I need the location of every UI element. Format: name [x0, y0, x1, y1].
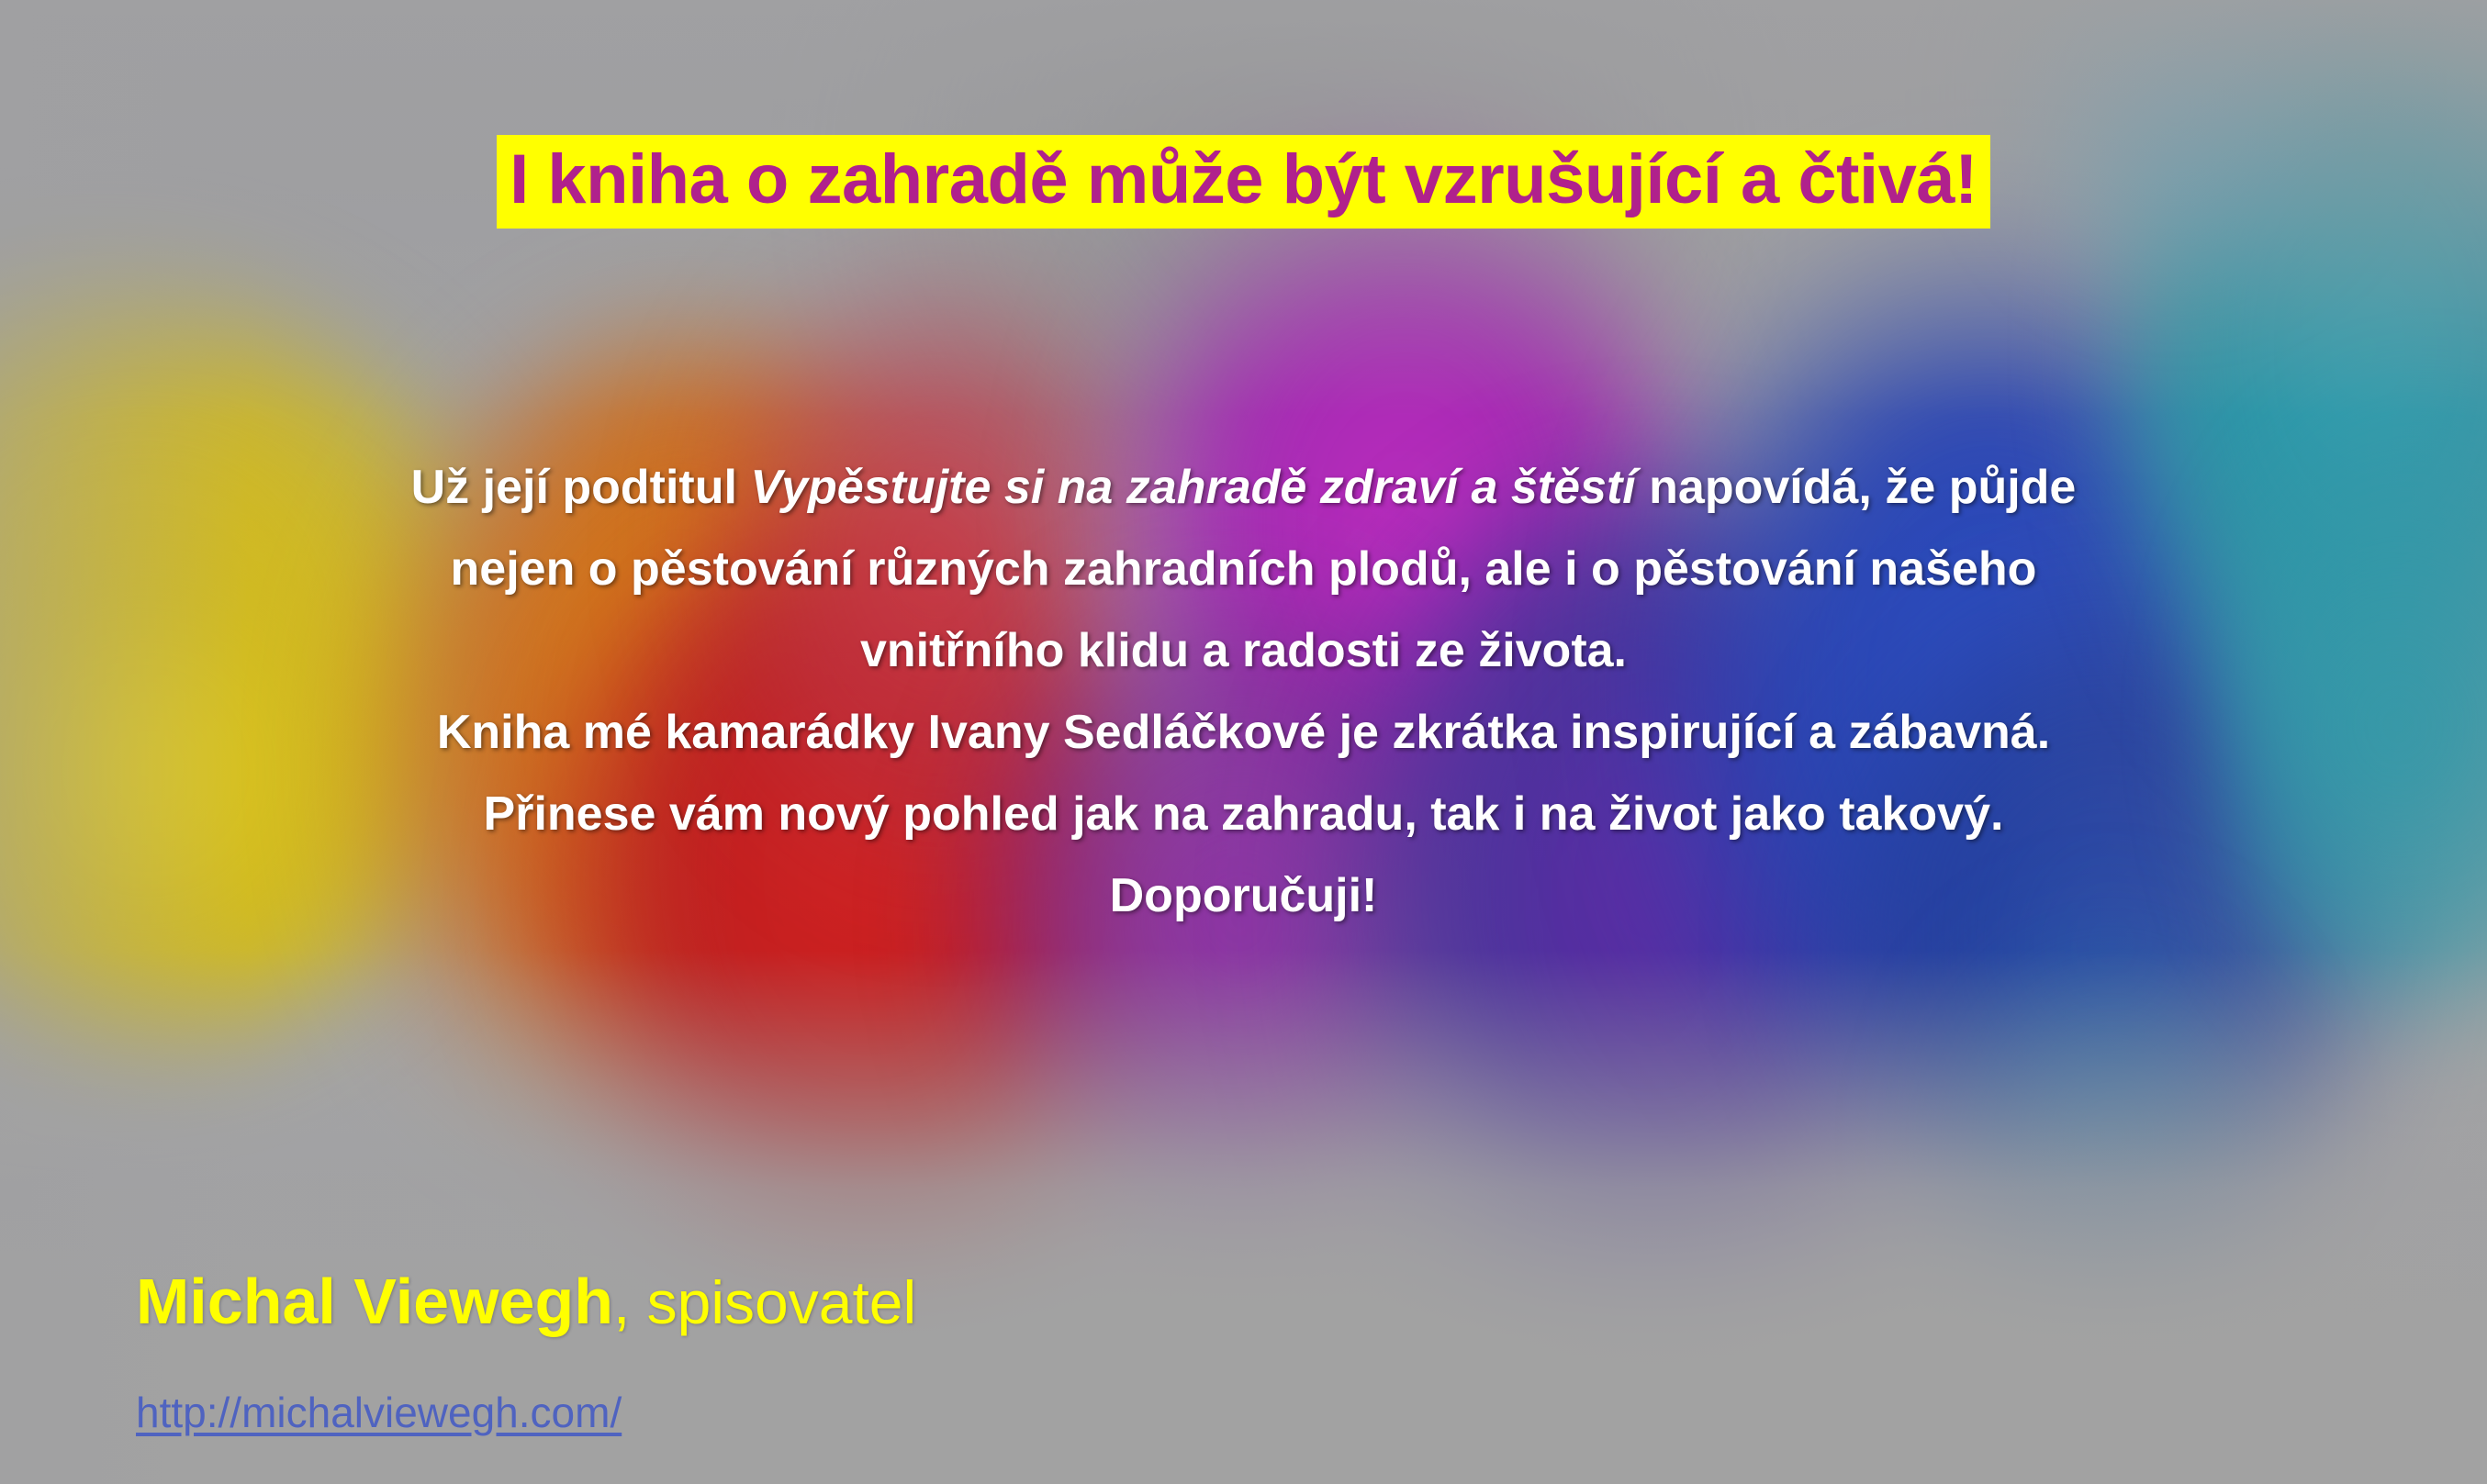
- quote-line-6: Doporučuji!: [110, 855, 2377, 937]
- presentation-slide: I kniha o zahradě může být vzrušující a …: [0, 0, 2487, 1484]
- attribution: Michal Viewegh, spisovatel: [136, 1265, 916, 1338]
- author-website-link[interactable]: http://michalviewegh.com/: [136, 1389, 622, 1436]
- author-name: Michal Viewegh: [136, 1266, 613, 1337]
- slide-content: I kniha o zahradě může být vzrušující a …: [0, 0, 2487, 1484]
- quote-body: Už její podtitul Vypěstujte si na zahrad…: [110, 447, 2377, 937]
- slide-title-row: I kniha o zahradě může být vzrušující a …: [0, 135, 2487, 229]
- quote-line-5: Přinese vám nový pohled jak na zahradu, …: [110, 774, 2377, 855]
- slide-title: I kniha o zahradě může být vzrušující a …: [497, 135, 1990, 229]
- author-link-row: http://michalviewegh.com/: [136, 1388, 622, 1437]
- author-role: spisovatel: [647, 1268, 917, 1336]
- quote-line-1: Už její podtitul Vypěstujte si na zahrad…: [110, 447, 2377, 529]
- book-subtitle-italic: Vypěstujte si na zahradě zdraví a štěstí: [750, 461, 1635, 514]
- quote-line-4: Kniha mé kamarádky Ivany Sedláčkové je z…: [110, 692, 2377, 774]
- attribution-separator: ,: [613, 1268, 647, 1336]
- quote-line-2: nejen o pěstování různých zahradních plo…: [110, 529, 2377, 610]
- quote-line-3: vnitřního klidu a radosti ze života.: [110, 610, 2377, 692]
- quote-line-1-segment-1: Už její podtitul: [411, 461, 751, 514]
- quote-line-1-segment-3: napovídá, že půjde: [1636, 461, 2077, 514]
